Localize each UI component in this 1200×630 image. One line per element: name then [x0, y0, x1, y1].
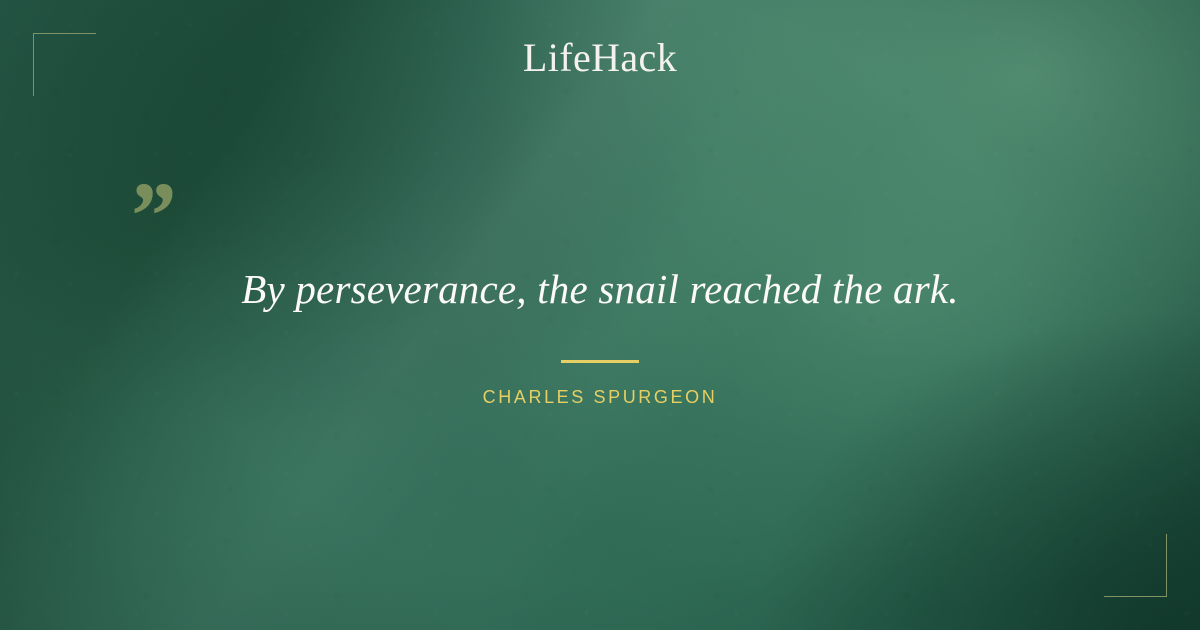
quote-divider [561, 360, 639, 363]
quote-card: LifeHack ” By perseverance, the snail re… [0, 0, 1200, 630]
quote-author: CHARLES SPURGEON [0, 388, 1200, 406]
quotation-mark-icon: ” [126, 168, 174, 264]
quote-text: By perseverance, the snail reached the a… [0, 262, 1200, 316]
corner-bracket-bottom-right-icon [1104, 534, 1167, 597]
lifehack-logo: LifeHack [0, 38, 1200, 78]
quote-block: By perseverance, the snail reached the a… [0, 262, 1200, 406]
